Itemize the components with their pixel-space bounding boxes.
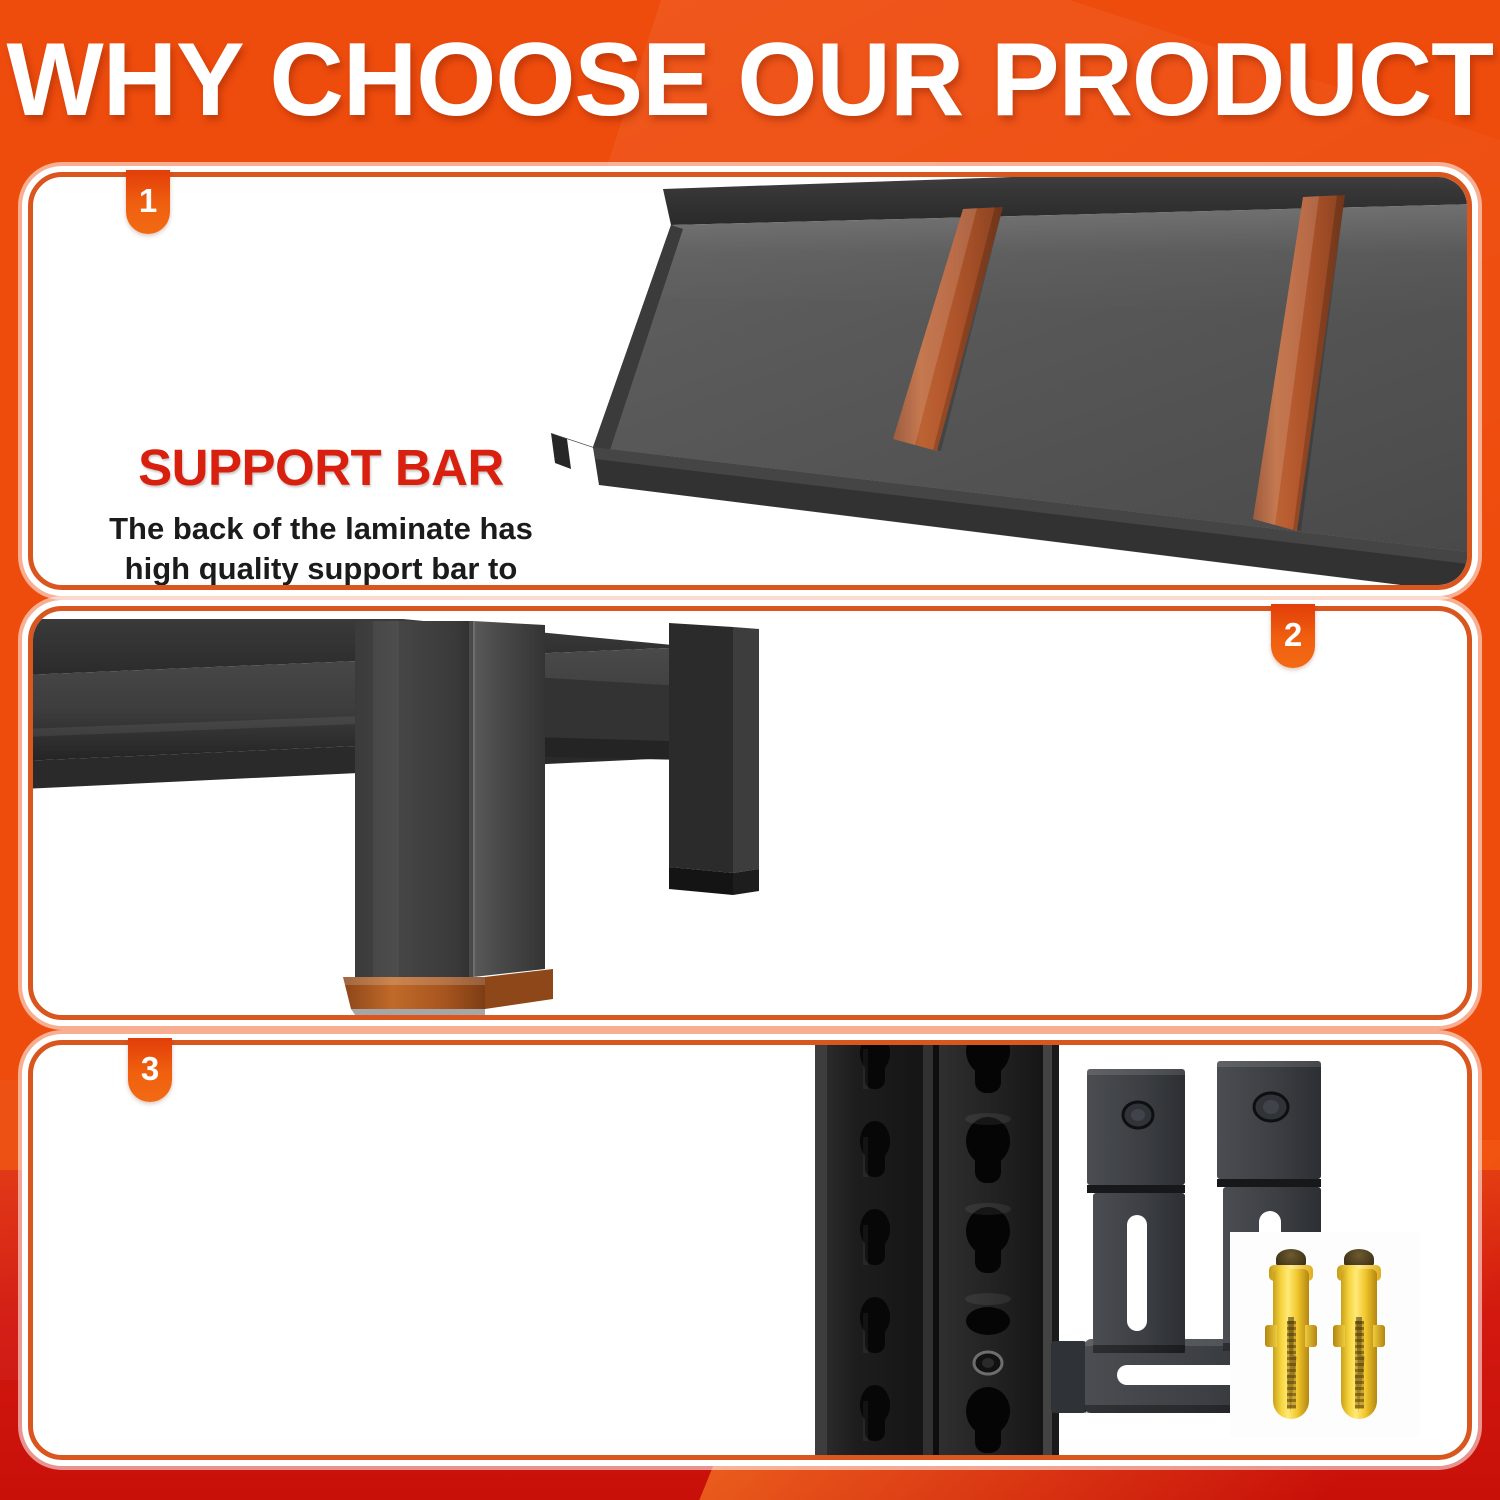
feature-card-support-bar: SUPPORT BAR The back of the laminate has… xyxy=(28,172,1472,590)
shelf-panel-svg xyxy=(533,177,1467,585)
feature-body-1: The back of the laminate has high qualit… xyxy=(81,509,561,590)
page-header: WHY CHOOSE OUR PRODUCT xyxy=(0,0,1500,160)
post-rivet xyxy=(974,1352,1002,1374)
feature-number-badge-2: 2 xyxy=(1271,604,1315,668)
feature-number-badge-3: 3 xyxy=(128,1038,172,1102)
foot-pad-illustration xyxy=(33,611,1467,1015)
wall-anchor-icon xyxy=(1265,1247,1317,1423)
feature-number-badge-1: 1 xyxy=(126,170,170,234)
support-bar-text: SUPPORT BAR The back of the laminate has… xyxy=(81,441,561,590)
feature-card-foot-pads: FOOT PADS The Foot pads not only pro-tec… xyxy=(28,606,1472,1020)
page-title: WHY CHOOSE OUR PRODUCT xyxy=(0,28,1500,132)
wall-anchor-pair xyxy=(1230,1232,1420,1437)
shelf-leg-svg xyxy=(33,611,873,1015)
wall-anchor-icon xyxy=(1333,1247,1385,1423)
anti-tipping-clip-a xyxy=(1087,1069,1185,1353)
infographic-page: WHY CHOOSE OUR PRODUCT xyxy=(0,0,1500,1500)
feature-heading-1: SUPPORT BAR xyxy=(81,441,561,495)
